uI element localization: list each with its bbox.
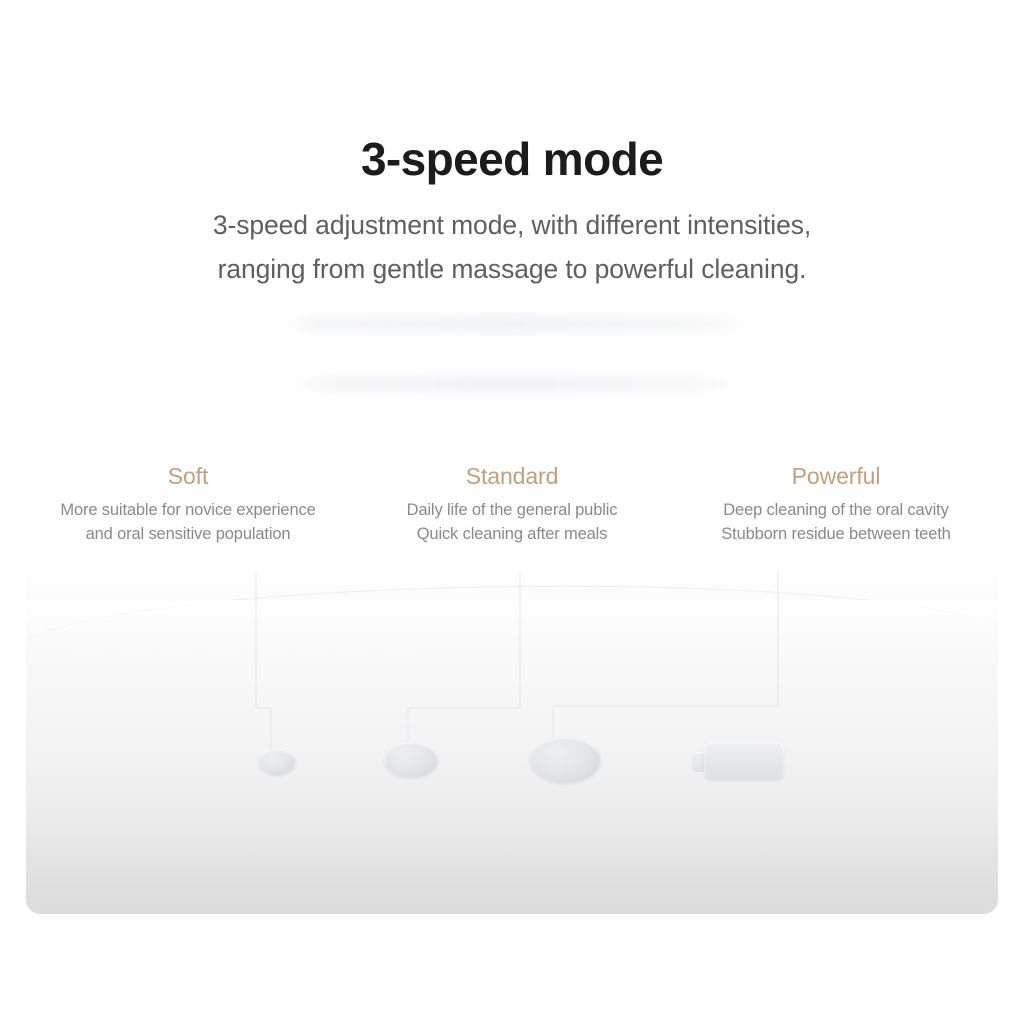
mode-description-powerful: Deep cleaning of the oral cavity Stubbor…	[674, 499, 998, 547]
mode-desc-powerful-line-2: Stubborn residue between teeth	[674, 523, 998, 547]
mode-title-standard: Standard	[350, 462, 674, 492]
leader-line-powerful	[553, 572, 778, 738]
device-handle-icon	[704, 742, 784, 780]
ghost-text-band-upper	[281, 316, 751, 332]
page-subtitle-line-2: ranging from gentle massage to powerful …	[26, 248, 998, 292]
mode-desc-standard-line-1: Daily life of the general public	[350, 499, 674, 523]
leader-line-standard	[408, 572, 520, 742]
mode-desc-soft-line-1: More suitable for novice experience	[26, 499, 350, 523]
mode-desc-powerful-line-1: Deep cleaning of the oral cavity	[674, 499, 998, 523]
surface-horizon-line	[26, 580, 998, 652]
mode-column-powerful: Powerful Deep cleaning of the oral cavit…	[674, 462, 998, 546]
mode-description-soft: More suitable for novice experience and …	[26, 499, 350, 547]
mode-label-row: Soft More suitable for novice experience…	[26, 462, 998, 546]
powerful-nozzle-icon	[529, 737, 601, 783]
headline-block: 3-speed mode 3-speed adjustment mode, wi…	[26, 0, 998, 292]
mode-description-standard: Daily life of the general public Quick c…	[350, 499, 674, 547]
mode-desc-soft-line-2: and oral sensitive population	[26, 523, 350, 547]
leader-line-soft	[256, 572, 271, 750]
surface-sheen	[26, 600, 998, 640]
product-feature-card: 3-speed mode 3-speed adjustment mode, wi…	[26, 0, 998, 914]
mode-column-standard: Standard Daily life of the general publi…	[350, 462, 674, 546]
mode-column-soft: Soft More suitable for novice experience…	[26, 462, 350, 546]
mode-title-soft: Soft	[26, 462, 350, 492]
mode-title-powerful: Powerful	[674, 462, 998, 492]
mode-desc-standard-line-2: Quick cleaning after meals	[350, 523, 674, 547]
standard-nozzle-icon	[384, 742, 438, 778]
page-subtitle-line-1: 3-speed adjustment mode, with different …	[26, 204, 998, 248]
soft-nozzle-icon	[258, 749, 296, 775]
page-subtitle: 3-speed adjustment mode, with different …	[26, 186, 998, 292]
page-title: 3-speed mode	[26, 0, 998, 186]
ghost-text-band-lower	[291, 377, 741, 391]
